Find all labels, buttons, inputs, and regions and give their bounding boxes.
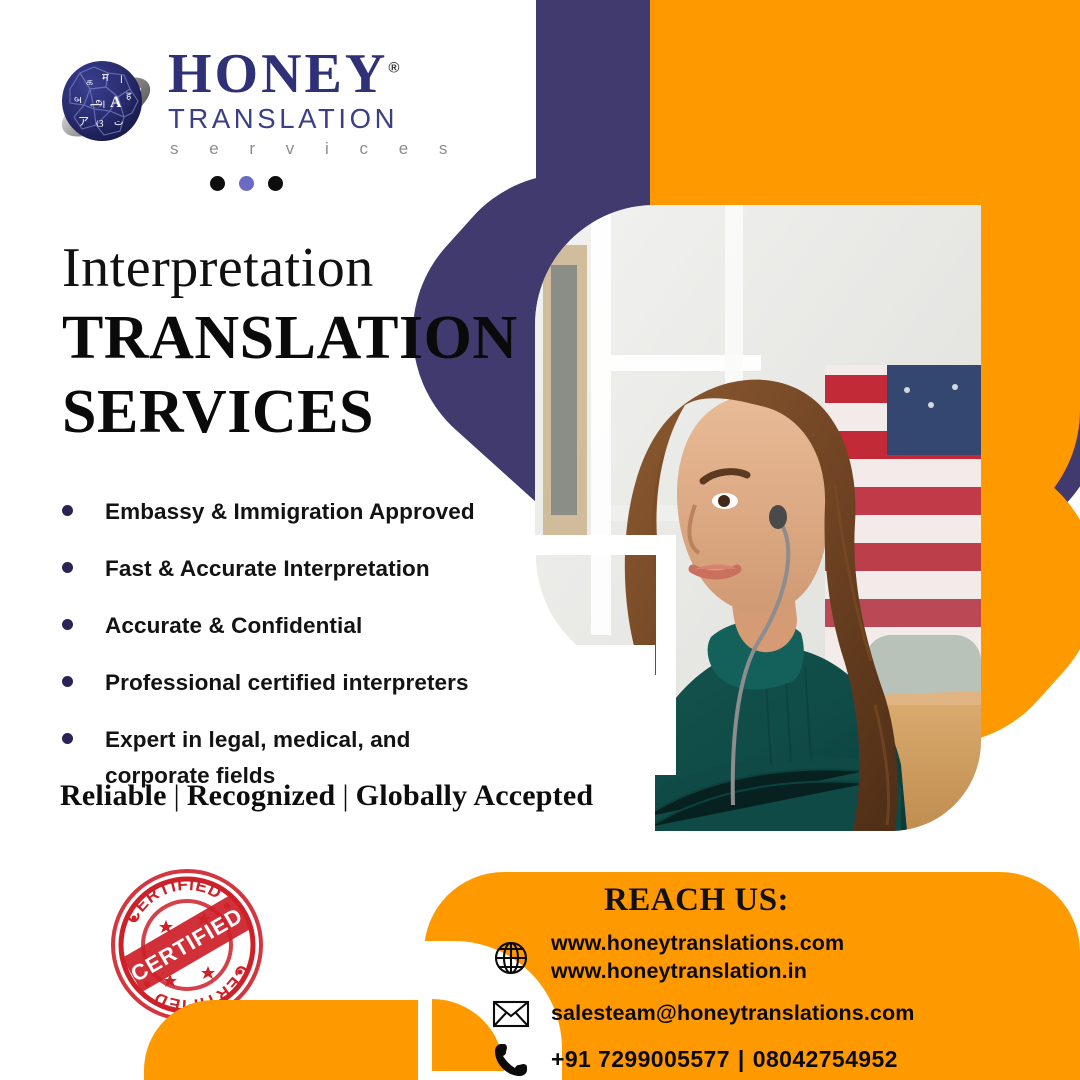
feature-label: Professional certified interpreters <box>105 665 469 701</box>
tagline: Reliable|Recognized|Globally Accepted <box>60 779 593 813</box>
feature-label: Fast & Accurate Interpretation <box>105 551 430 587</box>
headline-bold-line-2: SERVICES <box>62 378 518 447</box>
bullet-dot-icon <box>62 619 73 630</box>
dot-2 <box>239 176 254 191</box>
bullet-dot-icon <box>62 505 73 516</box>
tagline-part-1: Reliable <box>60 779 167 812</box>
contact-row-phone[interactable]: +91 7299005577|08042754952 <box>492 1041 1062 1079</box>
list-item: Accurate & Confidential <box>56 608 526 644</box>
svg-text:அ: அ <box>90 96 106 111</box>
svg-text:म: म <box>102 72 109 84</box>
contact-panel-notch <box>144 1000 434 1080</box>
poster-canvas: க म ا બ அ A ह ア ଓ ت HONEY® TRANSLATION s… <box>0 0 1080 1080</box>
website-links[interactable]: www.honeytranslations.com www.honeytrans… <box>536 930 844 985</box>
svg-text:ا: ا <box>120 75 123 86</box>
svg-text:ت: ت <box>114 117 123 128</box>
bullet-dot-icon <box>62 562 73 573</box>
website-link-1[interactable]: www.honeytranslations.com <box>551 931 844 955</box>
page-title: Interpretation TRANSLATION SERVICES <box>62 236 518 447</box>
tagline-part-2: Recognized <box>187 779 336 812</box>
feature-label: Accurate & Confidential <box>105 608 362 644</box>
phone-icon <box>492 1041 536 1079</box>
tagline-separator-1: | <box>167 779 187 812</box>
dot-1 <box>210 176 225 191</box>
list-item: Professional certified interpreters <box>56 665 526 701</box>
phone-separator: | <box>730 1046 753 1072</box>
tagline-separator-2: | <box>335 779 355 812</box>
bullet-dot-icon <box>62 676 73 687</box>
contact-row-email[interactable]: salesteam@honeytranslations.com <box>492 999 1062 1029</box>
phone-number-1[interactable]: +91 7299005577 <box>551 1046 730 1072</box>
logo-wordmark-secondary: TRANSLATION <box>168 102 460 136</box>
svg-text:க: க <box>86 76 93 88</box>
globe-languages-icon: க म ا બ அ A ह ア ଓ ت <box>50 49 158 157</box>
svg-text:બ: બ <box>74 95 82 106</box>
email-link[interactable]: salesteam@honeytranslations.com <box>536 1000 914 1028</box>
svg-text:ह: ह <box>126 91 132 102</box>
list-item: Embassy & Immigration Approved <box>56 494 526 530</box>
svg-text:ଓ: ଓ <box>96 118 104 130</box>
envelope-icon <box>492 999 536 1029</box>
contact-title: REACH US: <box>424 882 969 919</box>
feature-label: Embassy & Immigration Approved <box>105 494 475 530</box>
svg-text:ア: ア <box>78 116 89 128</box>
headline-bold-line-1: TRANSLATION <box>62 304 518 373</box>
dot-3 <box>268 176 283 191</box>
globe-icon <box>492 939 536 977</box>
feature-list: Embassy & Immigration Approved Fast & Ac… <box>56 494 526 815</box>
contact-row-website[interactable]: www.honeytranslations.com www.honeytrans… <box>492 930 1062 985</box>
logo-wordmark-primary: HONEY® <box>168 47 460 102</box>
website-link-2[interactable]: www.honeytranslation.in <box>551 959 807 983</box>
list-item: Fast & Accurate Interpretation <box>56 551 526 587</box>
contact-details: www.honeytranslations.com www.honeytrans… <box>492 930 1062 1080</box>
bullet-dot-icon <box>62 733 73 744</box>
registered-mark: ® <box>388 59 399 76</box>
logo-wordmark-tertiary: s e r v i c e s <box>168 136 460 162</box>
brand-logo[interactable]: க म ا બ அ A ह ア ଓ ت HONEY® TRANSLATION s… <box>50 45 470 191</box>
phone-numbers[interactable]: +91 7299005577|08042754952 <box>536 1045 898 1074</box>
logo-dots-decoration <box>210 176 470 191</box>
svg-text:A: A <box>110 94 122 111</box>
tagline-part-3: Globally Accepted <box>356 779 594 812</box>
headline-script-line: Interpretation <box>62 236 518 300</box>
phone-number-2[interactable]: 08042754952 <box>753 1046 898 1072</box>
